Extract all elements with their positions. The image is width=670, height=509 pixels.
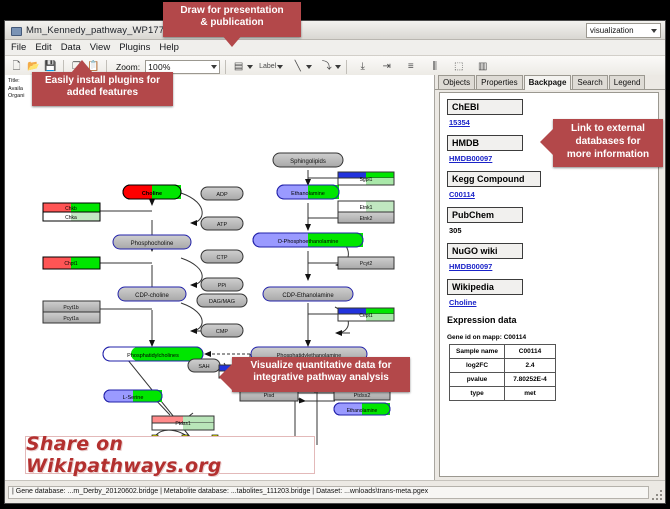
expression-data-table: Sample name C00114 log2FC 2.4 pvalue 7.8… <box>449 344 556 401</box>
row-value-log2fc: 2.4 <box>505 359 556 373</box>
db-link-wikipedia[interactable]: Choline <box>449 298 651 307</box>
node-cdp-choline[interactable]: CDP-choline <box>118 287 186 301</box>
table-row: Sample name C00114 <box>450 345 556 359</box>
svg-text:Pcyt1b: Pcyt1b <box>63 305 79 311</box>
callout-visualize-line2: integrative pathway analysis <box>232 372 410 384</box>
menu-edit[interactable]: Edit <box>35 42 51 53</box>
pathway-diagram[interactable]: Sphingolipids Choline Ethanolami <box>5 75 434 481</box>
node-dag-mag[interactable]: DAG/MAG <box>197 294 247 307</box>
svg-text:ATP: ATP <box>217 222 228 228</box>
svg-text:Ptdss2: Ptdss2 <box>354 393 371 399</box>
node-ppi[interactable]: PPi <box>201 278 243 291</box>
db-link-kegg-compound[interactable]: C00114 <box>449 190 651 199</box>
svg-text:Etnk1: Etnk1 <box>360 205 373 211</box>
svg-text:Chpt1: Chpt1 <box>64 261 78 267</box>
svg-text:Chka: Chka <box>65 215 77 221</box>
window-titlebar: Mm_Kennedy_pathway_WP1771_45176.gpml <box>5 21 665 40</box>
tab-objects[interactable]: Objects <box>438 75 475 89</box>
menu-data[interactable]: Data <box>61 42 81 53</box>
menu-file[interactable]: File <box>11 42 26 53</box>
row-key-sample-name: Sample name <box>450 345 505 359</box>
db-header-chebi: ChEBI <box>447 99 523 115</box>
db-link-nugo-wiki[interactable]: HMDB00097 <box>449 262 651 271</box>
tab-backpage[interactable]: Backpage <box>524 75 572 90</box>
svg-text:Pcyt2: Pcyt2 <box>360 261 373 267</box>
svg-text:Ptdss1: Ptdss1 <box>175 421 191 427</box>
share-wikipathways-banner: Share on Wikipathways.org <box>25 436 315 474</box>
tab-legend[interactable]: Legend <box>609 75 646 89</box>
callout-plugins-arrow <box>71 60 93 73</box>
svg-text:Choline: Choline <box>142 191 162 197</box>
tab-properties[interactable]: Properties <box>476 75 522 89</box>
expression-data-title: Expression data <box>447 315 651 325</box>
label-dropdown[interactable]: Label <box>259 63 283 70</box>
tab-search[interactable]: Search <box>572 75 607 89</box>
status-bar: | Gene database: ...m_Derby_20120602.bri… <box>5 480 665 503</box>
svg-text:O-Phosphoethanolamine: O-Phosphoethanolamine <box>278 239 339 245</box>
callout-visualize-line1: Visualize quantitative data for <box>232 360 410 372</box>
svg-text:Pisd: Pisd <box>264 393 275 399</box>
callout-links-arrow <box>540 129 553 155</box>
visualization-select[interactable]: visualization <box>586 23 661 38</box>
align-left-icon[interactable]: ⇥ <box>379 59 394 74</box>
line-icon[interactable]: ╲ <box>290 59 305 74</box>
chevron-down-icon <box>335 65 341 69</box>
node-phosphocholine[interactable]: Phosphocholine <box>113 235 191 249</box>
svg-text:CDP-Ethanolamine: CDP-Ethanolamine <box>282 293 334 299</box>
callout-draw-line2: & publication <box>163 17 301 29</box>
db-header-wikipedia: Wikipedia <box>447 279 523 295</box>
row-key-type: type <box>450 387 505 401</box>
svg-text:L-Serine: L-Serine <box>123 395 144 401</box>
datanode-dropdown[interactable]: ▤ <box>231 59 253 74</box>
callout-plugins-line2: added features <box>32 87 173 99</box>
distribute-vertical-icon[interactable]: ≡ <box>403 59 418 74</box>
menu-plugins[interactable]: Plugins <box>119 42 150 53</box>
node-ptdss1[interactable]: Ptdss1 <box>152 416 214 430</box>
new-file-icon[interactable]: 🗋 <box>9 59 24 74</box>
datanode-icon[interactable]: ▤ <box>231 59 246 74</box>
app-icon <box>10 25 21 36</box>
node-ethanolamine[interactable]: Ethanolamine <box>277 185 339 199</box>
gene-id-on-mapp: Gene id on mapp: C00114 <box>447 334 651 341</box>
align-top-icon[interactable]: ⤓ <box>355 59 370 74</box>
zoom-value: 100% <box>148 62 171 72</box>
svg-text:Sgpl1: Sgpl1 <box>360 177 373 183</box>
node-pcyt2[interactable]: Pcyt2 <box>338 257 394 269</box>
chevron-down-icon <box>211 65 217 69</box>
svg-text:DAG/MAG: DAG/MAG <box>209 299 235 305</box>
row-value-type: met <box>505 387 556 401</box>
status-bar-text: | Gene database: ...m_Derby_20120602.bri… <box>8 486 649 499</box>
menu-view[interactable]: View <box>90 42 110 53</box>
svg-text:CMP: CMP <box>216 329 229 335</box>
table-row: pvalue 7.80252E-4 <box>450 373 556 387</box>
visualization-value: visualization <box>590 26 634 35</box>
node-atp[interactable]: ATP <box>201 217 243 230</box>
callout-links-line1: Link to external <box>553 122 663 135</box>
line-dropdown[interactable]: ╲ <box>290 59 312 74</box>
svg-text:SAH: SAH <box>198 364 209 370</box>
db-header-nugo-wiki: NuGO wiki <box>447 243 523 259</box>
node-ethanolamine-right[interactable]: Ethanolamine <box>334 403 390 415</box>
callout-draw-arrow <box>221 34 243 47</box>
svg-text:Pcyt1a: Pcyt1a <box>63 316 79 322</box>
node-phosphatidylcholines[interactable]: Phosphatidylcholines <box>103 347 203 361</box>
node-choline-top[interactable]: Choline <box>123 185 181 199</box>
chevron-down-icon <box>247 65 253 69</box>
screenshot-root: Mm_Kennedy_pathway_WP1771_45176.gpml Fil… <box>0 0 670 509</box>
distribute-horizontal-icon[interactable]: ⫼ <box>427 59 442 74</box>
node-cept1[interactable]: Cept1 <box>338 308 394 321</box>
node-sah[interactable]: SAH <box>188 359 220 372</box>
node-etnk1-etnk2[interactable]: Etnk1 Etnk2 <box>338 201 394 223</box>
same-height-icon[interactable]: ▥ <box>475 59 490 74</box>
table-row: log2FC 2.4 <box>450 359 556 373</box>
node-pcyt1b-pcyt1a[interactable]: Pcyt1b Pcyt1a <box>43 301 100 323</box>
db-value-pubchem: 305 <box>449 226 651 235</box>
callout-links-line2: databases for <box>553 135 663 148</box>
pathway-canvas-pane[interactable]: Title: Availa Organi <box>5 75 435 481</box>
callout-links-line3: more information <box>553 148 663 161</box>
zoom-label: Zoom: <box>116 62 140 72</box>
node-chkb-chka[interactable]: Chkb Chka <box>43 203 100 221</box>
node-chpt1[interactable]: Chpt1 <box>43 257 100 269</box>
svg-text:Sphingolipids: Sphingolipids <box>290 159 326 165</box>
toolbar-separator-3 <box>225 60 226 74</box>
node-sgpl1[interactable]: Sgpl1 <box>338 172 394 185</box>
toolbar-separator-4 <box>346 60 347 74</box>
share-text: Share on Wikipathways.org <box>26 433 314 477</box>
svg-text:Chkb: Chkb <box>65 206 77 212</box>
menubar: File Edit Data View Plugins Help <box>5 40 665 56</box>
node-adp[interactable]: ADP <box>201 187 243 200</box>
node-cmp[interactable]: CMP <box>201 324 243 337</box>
db-header-kegg-compound: Kegg Compound <box>447 171 541 187</box>
db-header-hmdb: HMDB <box>447 135 523 151</box>
svg-text:ADP: ADP <box>216 192 228 198</box>
callout-draw-line1: Draw for presentation <box>163 5 301 17</box>
node-sphingolipids[interactable]: Sphingolipids <box>273 153 343 167</box>
svg-text:CDP-choline: CDP-choline <box>135 293 169 299</box>
chevron-down-icon <box>306 65 312 69</box>
svg-text:Cept1: Cept1 <box>359 313 373 319</box>
interaction-icon[interactable]: ⤵ <box>319 59 334 74</box>
svg-text:Ethanolamine: Ethanolamine <box>347 408 378 414</box>
node-ctp[interactable]: CTP <box>201 250 243 263</box>
svg-text:CTP: CTP <box>217 255 228 261</box>
node-cdp-ethanolamine[interactable]: CDP-Ethanolamine <box>263 287 353 301</box>
row-key-log2fc: log2FC <box>450 359 505 373</box>
svg-text:Phosphocholine: Phosphocholine <box>131 241 174 247</box>
same-width-icon[interactable]: ⬚ <box>451 59 466 74</box>
svg-text:Ethanolamine: Ethanolamine <box>291 191 325 197</box>
callout-draw-for-presentation: Draw for presentation & publication <box>163 2 301 37</box>
svg-text:Phosphatidylcholines: Phosphatidylcholines <box>127 353 179 359</box>
table-row: type met <box>450 387 556 401</box>
svg-text:Etnk2: Etnk2 <box>360 216 373 222</box>
callout-visualize-arrow <box>219 364 232 390</box>
label-icon[interactable]: Label <box>259 63 276 70</box>
interaction-dropdown[interactable]: ⤵ <box>319 59 341 74</box>
svg-text:PPi: PPi <box>218 283 227 289</box>
db-header-pubchem: PubChem <box>447 207 523 223</box>
callout-visualize-quantitative-data: Visualize quantitative data for integrat… <box>232 357 410 392</box>
callout-easily-install-plugins: Easily install plugins for added feature… <box>32 72 173 106</box>
node-l-serine-left[interactable]: L-Serine <box>104 390 162 402</box>
row-key-pvalue: pvalue <box>450 373 505 387</box>
callout-plugins-line1: Easily install plugins for <box>32 75 173 87</box>
resize-grip[interactable] <box>652 490 663 501</box>
node-o-phosphoethanolamine[interactable]: O-Phosphoethanolamine <box>253 233 363 247</box>
side-panel-tabs: Objects Properties Backpage Search Legen… <box>435 75 665 90</box>
chevron-down-icon <box>651 29 657 33</box>
row-value-sample-name: C00114 <box>505 345 556 359</box>
chevron-down-icon <box>277 65 283 69</box>
row-value-pvalue: 7.80252E-4 <box>505 373 556 387</box>
menu-help[interactable]: Help <box>159 42 179 53</box>
callout-link-to-external-databases: Link to external databases for more info… <box>553 119 663 167</box>
